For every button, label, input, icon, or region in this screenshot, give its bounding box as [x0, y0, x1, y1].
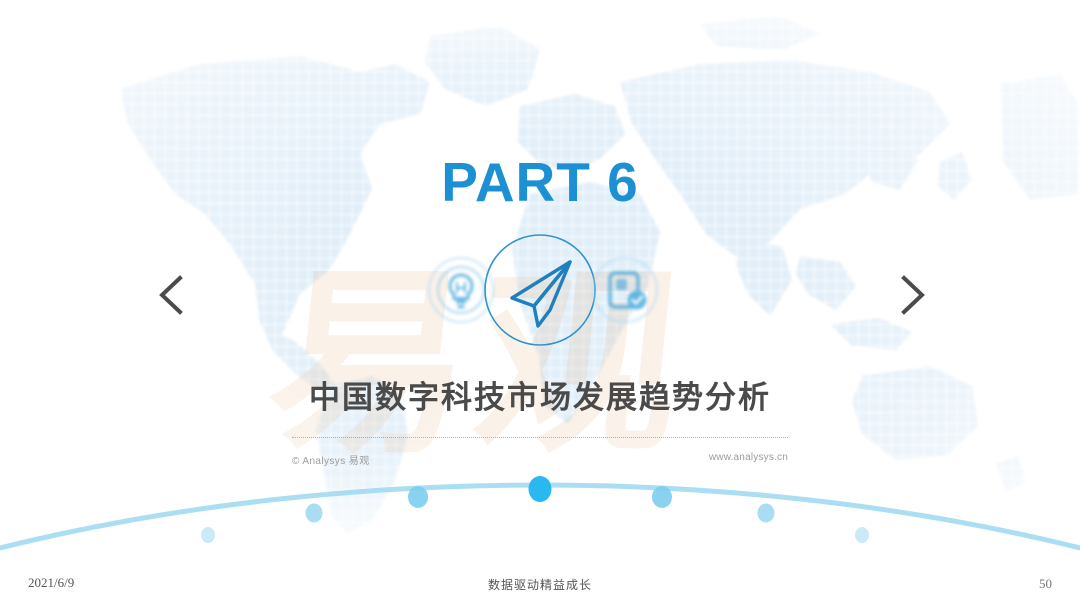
chevron-right-icon[interactable] [890, 272, 934, 318]
arc-dots [201, 476, 869, 543]
footer-tagline: 数据驱动精益成长 [0, 576, 1080, 593]
slide-subtitle: 中国数字科技市场发展趋势分析 [0, 372, 1080, 417]
chevron-left-icon[interactable] [150, 272, 194, 318]
paper-plane-icon [482, 232, 598, 348]
icon-cluster [400, 232, 680, 350]
document-check-icon [590, 255, 660, 325]
presentation-slide: 易观 PART 6 [0, 0, 1080, 608]
dotted-divider [292, 437, 788, 439]
footer-page-number: 50 [1039, 576, 1052, 592]
progress-dot-arc [0, 455, 1080, 565]
part-title: PART 6 [0, 150, 1080, 214]
